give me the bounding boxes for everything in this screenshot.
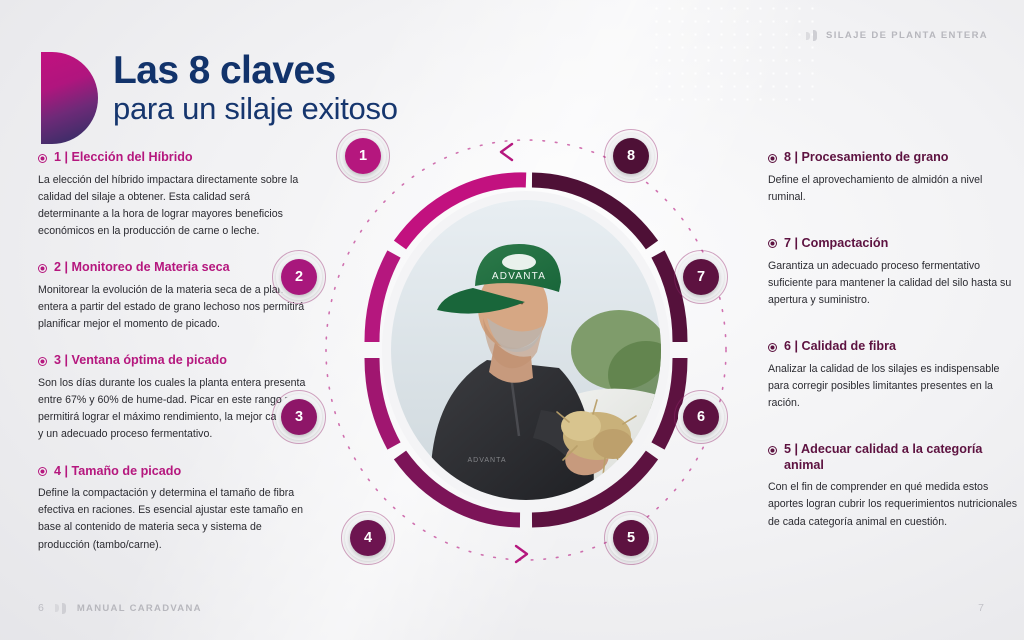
wheel-badge-1-number: 1 bbox=[345, 138, 381, 174]
wheel-badge-8[interactable]: 8 bbox=[608, 133, 654, 179]
footer-page-right: 7 bbox=[978, 602, 984, 614]
chevron-right-marker-icon bbox=[516, 546, 527, 562]
footer-page-left: 6 bbox=[38, 602, 44, 614]
wheel-badge-8-number: 8 bbox=[613, 138, 649, 174]
key-item-6: 6 | Calidad de fibra Analizar la calidad… bbox=[768, 339, 1020, 412]
wheel-badge-5-number: 5 bbox=[613, 520, 649, 556]
footer-left: 6 MANUAL CARADVANA bbox=[38, 602, 202, 614]
key-item-7-body: Garantiza un adecuado proceso fermentati… bbox=[768, 258, 1020, 309]
eight-keys-wheel: ADVANTA ADVANTA 1 2 3 4 5 6 7 8 bbox=[290, 104, 760, 594]
key-item-6-heading: 6 | Calidad de fibra bbox=[768, 339, 1020, 355]
right-key-list: 8 | Procesamiento de grano Define el apr… bbox=[768, 150, 1020, 551]
key-item-7-heading: 7 | Compactación bbox=[768, 236, 1020, 252]
key-item-4: 4 | Tamaño de picado Define la compactac… bbox=[38, 464, 306, 554]
chevron-mark-icon bbox=[806, 30, 817, 41]
bullet-icon bbox=[38, 264, 47, 273]
key-item-2-heading: 2 | Monitoreo de Materia seca bbox=[38, 260, 306, 276]
key-item-2: 2 | Monitoreo de Materia seca Monitorear… bbox=[38, 260, 306, 333]
wheel-badge-2-number: 2 bbox=[281, 259, 317, 295]
title-line-1: Las 8 claves bbox=[113, 52, 398, 90]
svg-text:ADVANTA: ADVANTA bbox=[467, 457, 506, 464]
bullet-icon bbox=[38, 154, 47, 163]
bullet-icon bbox=[768, 446, 777, 455]
chevron-mark-icon bbox=[55, 603, 66, 614]
key-item-3-heading: 3 | Ventana óptima de picado bbox=[38, 353, 306, 369]
left-key-list: 1 | Elección del Híbrido La elección del… bbox=[38, 150, 306, 574]
chevron-left-marker-icon bbox=[501, 144, 512, 160]
key-item-1-body: La elección del híbrido impactara direct… bbox=[38, 172, 306, 241]
key-item-5-body: Con el fin de comprender en qué medida e… bbox=[768, 479, 1020, 530]
wheel-badge-1[interactable]: 1 bbox=[340, 133, 386, 179]
key-item-5: 5 | Adecuar calidad a la categoría anima… bbox=[768, 442, 1020, 531]
key-item-8: 8 | Procesamiento de grano Define el apr… bbox=[768, 150, 1020, 206]
key-item-7: 7 | Compactación Garantiza un adecuado p… bbox=[768, 236, 1020, 309]
brand-d-logo-icon bbox=[41, 52, 98, 144]
key-item-1-heading: 1 | Elección del Híbrido bbox=[38, 150, 306, 166]
bullet-icon bbox=[768, 154, 777, 163]
wheel-badge-3[interactable]: 3 bbox=[276, 394, 322, 440]
svg-text:ADVANTA: ADVANTA bbox=[492, 271, 546, 282]
key-item-3: 3 | Ventana óptima de picado Son los día… bbox=[38, 353, 306, 443]
header-brand-bar: SILAJE DE PLANTA ENTERA bbox=[806, 30, 988, 41]
key-item-8-body: Define el aprovechamiento de almidón a n… bbox=[768, 172, 1020, 206]
wheel-badge-2[interactable]: 2 bbox=[276, 254, 322, 300]
bullet-icon bbox=[38, 357, 47, 366]
key-item-6-body: Analizar la calidad de los silajes es in… bbox=[768, 361, 1020, 412]
key-item-2-body: Monitorear la evolución de la materia se… bbox=[38, 282, 306, 333]
bullet-icon bbox=[768, 239, 777, 248]
key-item-4-body: Define la compactación y determina el ta… bbox=[38, 485, 306, 554]
bullet-icon bbox=[38, 467, 47, 476]
key-item-3-body: Son los días durante los cuales la plant… bbox=[38, 375, 306, 444]
farmer-photo-illustration: ADVANTA ADVANTA bbox=[391, 200, 661, 500]
bullet-icon bbox=[768, 343, 777, 352]
wheel-badge-6[interactable]: 6 bbox=[678, 394, 724, 440]
key-item-8-heading: 8 | Procesamiento de grano bbox=[768, 150, 1020, 166]
wheel-badge-4[interactable]: 4 bbox=[345, 515, 391, 561]
wheel-badge-5[interactable]: 5 bbox=[608, 515, 654, 561]
wheel-badge-3-number: 3 bbox=[281, 399, 317, 435]
footer-label: MANUAL CARADVANA bbox=[77, 603, 202, 614]
key-item-4-heading: 4 | Tamaño de picado bbox=[38, 464, 306, 480]
key-item-5-heading: 5 | Adecuar calidad a la categoría anima… bbox=[768, 442, 1020, 473]
decorative-dot-grid bbox=[650, 2, 820, 107]
wheel-badge-6-number: 6 bbox=[683, 399, 719, 435]
wheel-badge-7[interactable]: 7 bbox=[678, 254, 724, 300]
header-label: SILAJE DE PLANTA ENTERA bbox=[826, 30, 988, 41]
key-item-1: 1 | Elección del Híbrido La elección del… bbox=[38, 150, 306, 240]
center-photo: ADVANTA ADVANTA bbox=[391, 200, 661, 500]
wheel-badge-4-number: 4 bbox=[350, 520, 386, 556]
wheel-badge-7-number: 7 bbox=[683, 259, 719, 295]
